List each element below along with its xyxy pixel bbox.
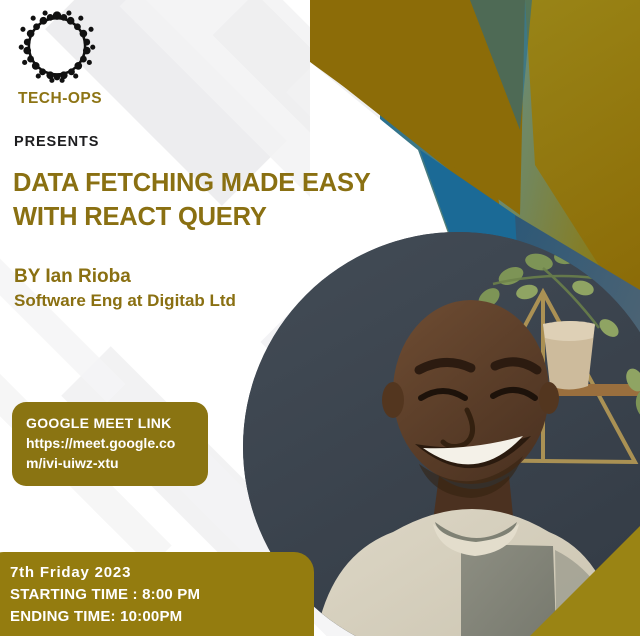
event-date: 7th Friday 2023 (10, 562, 314, 584)
schedule-bar: 7th Friday 2023 STARTING TIME : 8:00 PM … (0, 552, 314, 636)
google-meet-url-line-2[interactable]: m/ivi-uiwz-xtu (26, 453, 194, 473)
title-line-1: DATA FETCHING MADE EASY (13, 166, 433, 200)
brand-logo-block: TECH-OPS (10, 8, 200, 108)
google-meet-label: GOOGLE MEET LINK (26, 414, 194, 433)
page-title: DATA FETCHING MADE EASY WITH REACT QUERY (13, 166, 433, 234)
google-meet-url-line-1[interactable]: https://meet.google.co (26, 433, 194, 453)
event-end-time: ENDING TIME: 10:00PM (10, 606, 314, 628)
speaker-name: BY Ian Rioba (14, 264, 314, 289)
event-start-time: STARTING TIME : 8:00 PM (10, 584, 314, 606)
event-poster: TECH-OPS PRESENTS DATA FETCHING MADE EAS… (0, 0, 640, 636)
google-meet-link-box[interactable]: GOOGLE MEET LINK https://meet.google.co … (12, 402, 208, 486)
speaker-byline: BY Ian Rioba Software Eng at Digitab Ltd (14, 264, 314, 313)
presents-label: PRESENTS (14, 134, 99, 150)
corner-gold-wedge (520, 516, 640, 636)
speaker-role: Software Eng at Digitab Ltd (14, 289, 314, 313)
brand-name: TECH-OPS (18, 90, 200, 108)
title-line-2: WITH REACT QUERY (13, 200, 433, 234)
wreath-circle-icon (14, 8, 100, 88)
